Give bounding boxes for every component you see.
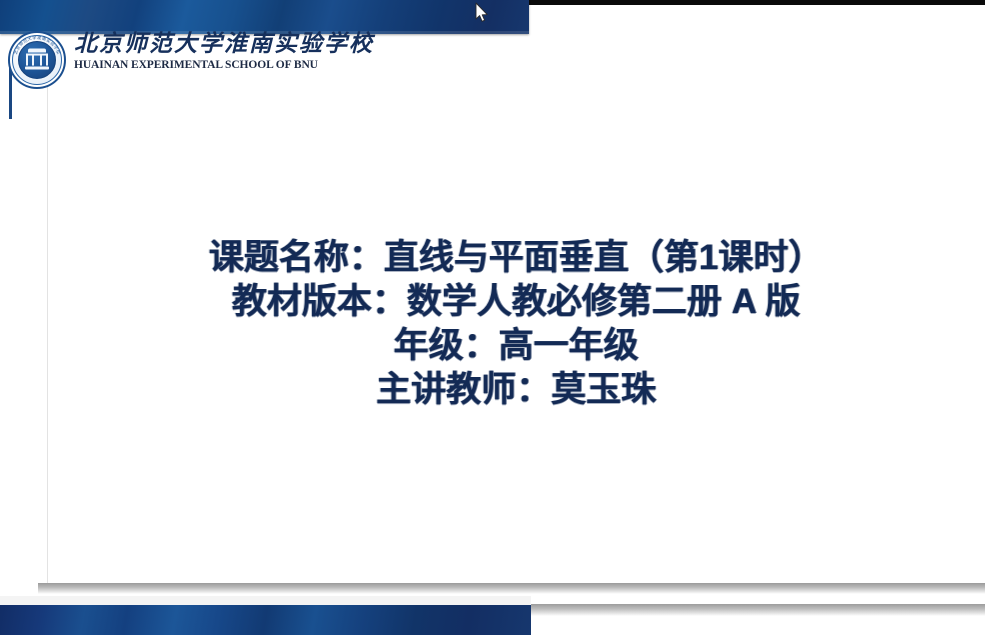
top-blue-band [0,0,529,34]
school-header: 北京师范大学淮南实验学校 北京师范大学淮南实验学校 HUAINAN EXPERI… [8,30,374,89]
school-name-chinese: 北京师范大学淮南实验学校 [74,32,374,56]
bottom-light-strip [0,596,531,605]
screen-root: 北京师范大学淮南实验学校 北京师范大学淮南实验学校 HUAINAN EXPERI… [0,0,985,635]
slide-title-line-grade: 年级：高一年级 [47,324,985,368]
school-name-group: 北京师范大学淮南实验学校 HUAINAN EXPERIMENTAL SCHOOL… [74,30,374,71]
seal-inner-disc [18,41,56,79]
slide-title-line-topic: 课题名称：直线与平面垂直（第1课时） [47,236,985,280]
arrow-pointer-cursor-icon [475,2,489,23]
lower-shadow-bar [531,604,985,616]
slide-title-line-teacher: 主讲教师：莫玉珠 [47,368,985,412]
seal-gate-emblem-icon [25,49,49,71]
school-seal-logo: 北京师范大学淮南实验学校 [8,31,66,89]
slide-title-block: 课题名称：直线与平面垂直（第1课时） 教材版本：数学人教必修第二册 A 版 年级… [47,236,985,412]
slide-title-line-textbook: 教材版本：数学人教必修第二册 A 版 [47,280,985,324]
bottom-blue-band [0,605,531,635]
top-black-strip [528,0,985,5]
school-name-english: HUAINAN EXPERIMENTAL SCHOOL OF BNU [74,59,374,71]
